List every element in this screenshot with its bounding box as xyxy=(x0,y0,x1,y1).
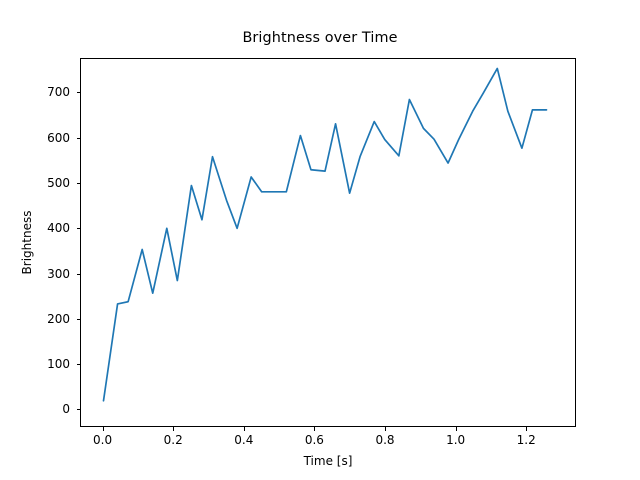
y-tick-mark xyxy=(77,228,81,229)
y-tick-mark xyxy=(77,138,81,139)
x-tick-label: 0.8 xyxy=(375,433,394,447)
x-tick-label: 0.2 xyxy=(164,433,183,447)
y-tick-mark xyxy=(77,319,81,320)
line-series-svg xyxy=(81,59,575,426)
y-tick-mark xyxy=(77,364,81,365)
x-tick-mark xyxy=(314,427,315,431)
x-tick-mark xyxy=(526,427,527,431)
x-tick-label: 1.2 xyxy=(517,433,536,447)
x-axis-label: Time [s] xyxy=(80,454,576,468)
x-tick-label: 0.6 xyxy=(305,433,324,447)
line-series-brightness xyxy=(103,68,546,400)
x-tick-mark xyxy=(385,427,386,431)
y-tick-mark xyxy=(77,409,81,410)
x-tick-mark xyxy=(173,427,174,431)
x-tick-label: 0.4 xyxy=(234,433,253,447)
x-tick-label: 0.0 xyxy=(93,433,112,447)
y-tick-mark xyxy=(77,183,81,184)
y-tick-mark xyxy=(77,92,81,93)
figure-canvas: Brightness over Time 0100200300400500600… xyxy=(0,0,640,480)
x-tick-mark xyxy=(244,427,245,431)
x-tick-mark xyxy=(456,427,457,431)
y-tick-mark xyxy=(77,274,81,275)
x-tick-mark xyxy=(103,427,104,431)
page-title: Brightness over Time xyxy=(0,30,640,46)
y-axis-label: Brightness xyxy=(20,58,40,427)
x-tick-label: 1.0 xyxy=(446,433,465,447)
plot-area xyxy=(80,58,576,427)
